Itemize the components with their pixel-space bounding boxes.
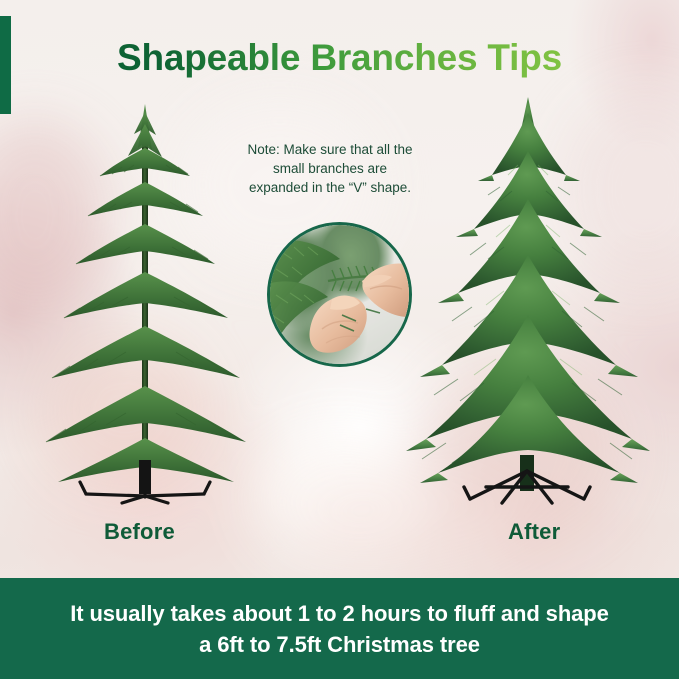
inset-illustration — [270, 225, 409, 364]
banner-text: It usually takes about 1 to 2 hours to f… — [52, 598, 627, 660]
page-title: Shapeable Branches Tips — [0, 34, 679, 82]
after-tree-image — [400, 95, 650, 510]
banner-line-1: It usually takes about 1 to 2 hours to f… — [70, 598, 609, 629]
banner-line-2: a 6ft to 7.5ft Christmas tree — [70, 629, 609, 660]
after-tree-svg — [400, 95, 650, 510]
poster-root: Shapeable Branches Tips Note: Make sure … — [0, 0, 679, 679]
bottom-banner: It usually takes about 1 to 2 hours to f… — [0, 578, 679, 679]
before-tree-image — [38, 100, 268, 510]
branch-shaping-inset-photo — [267, 222, 412, 367]
before-tree-svg — [38, 100, 268, 510]
after-label: After — [508, 519, 560, 545]
before-label: Before — [104, 519, 175, 545]
